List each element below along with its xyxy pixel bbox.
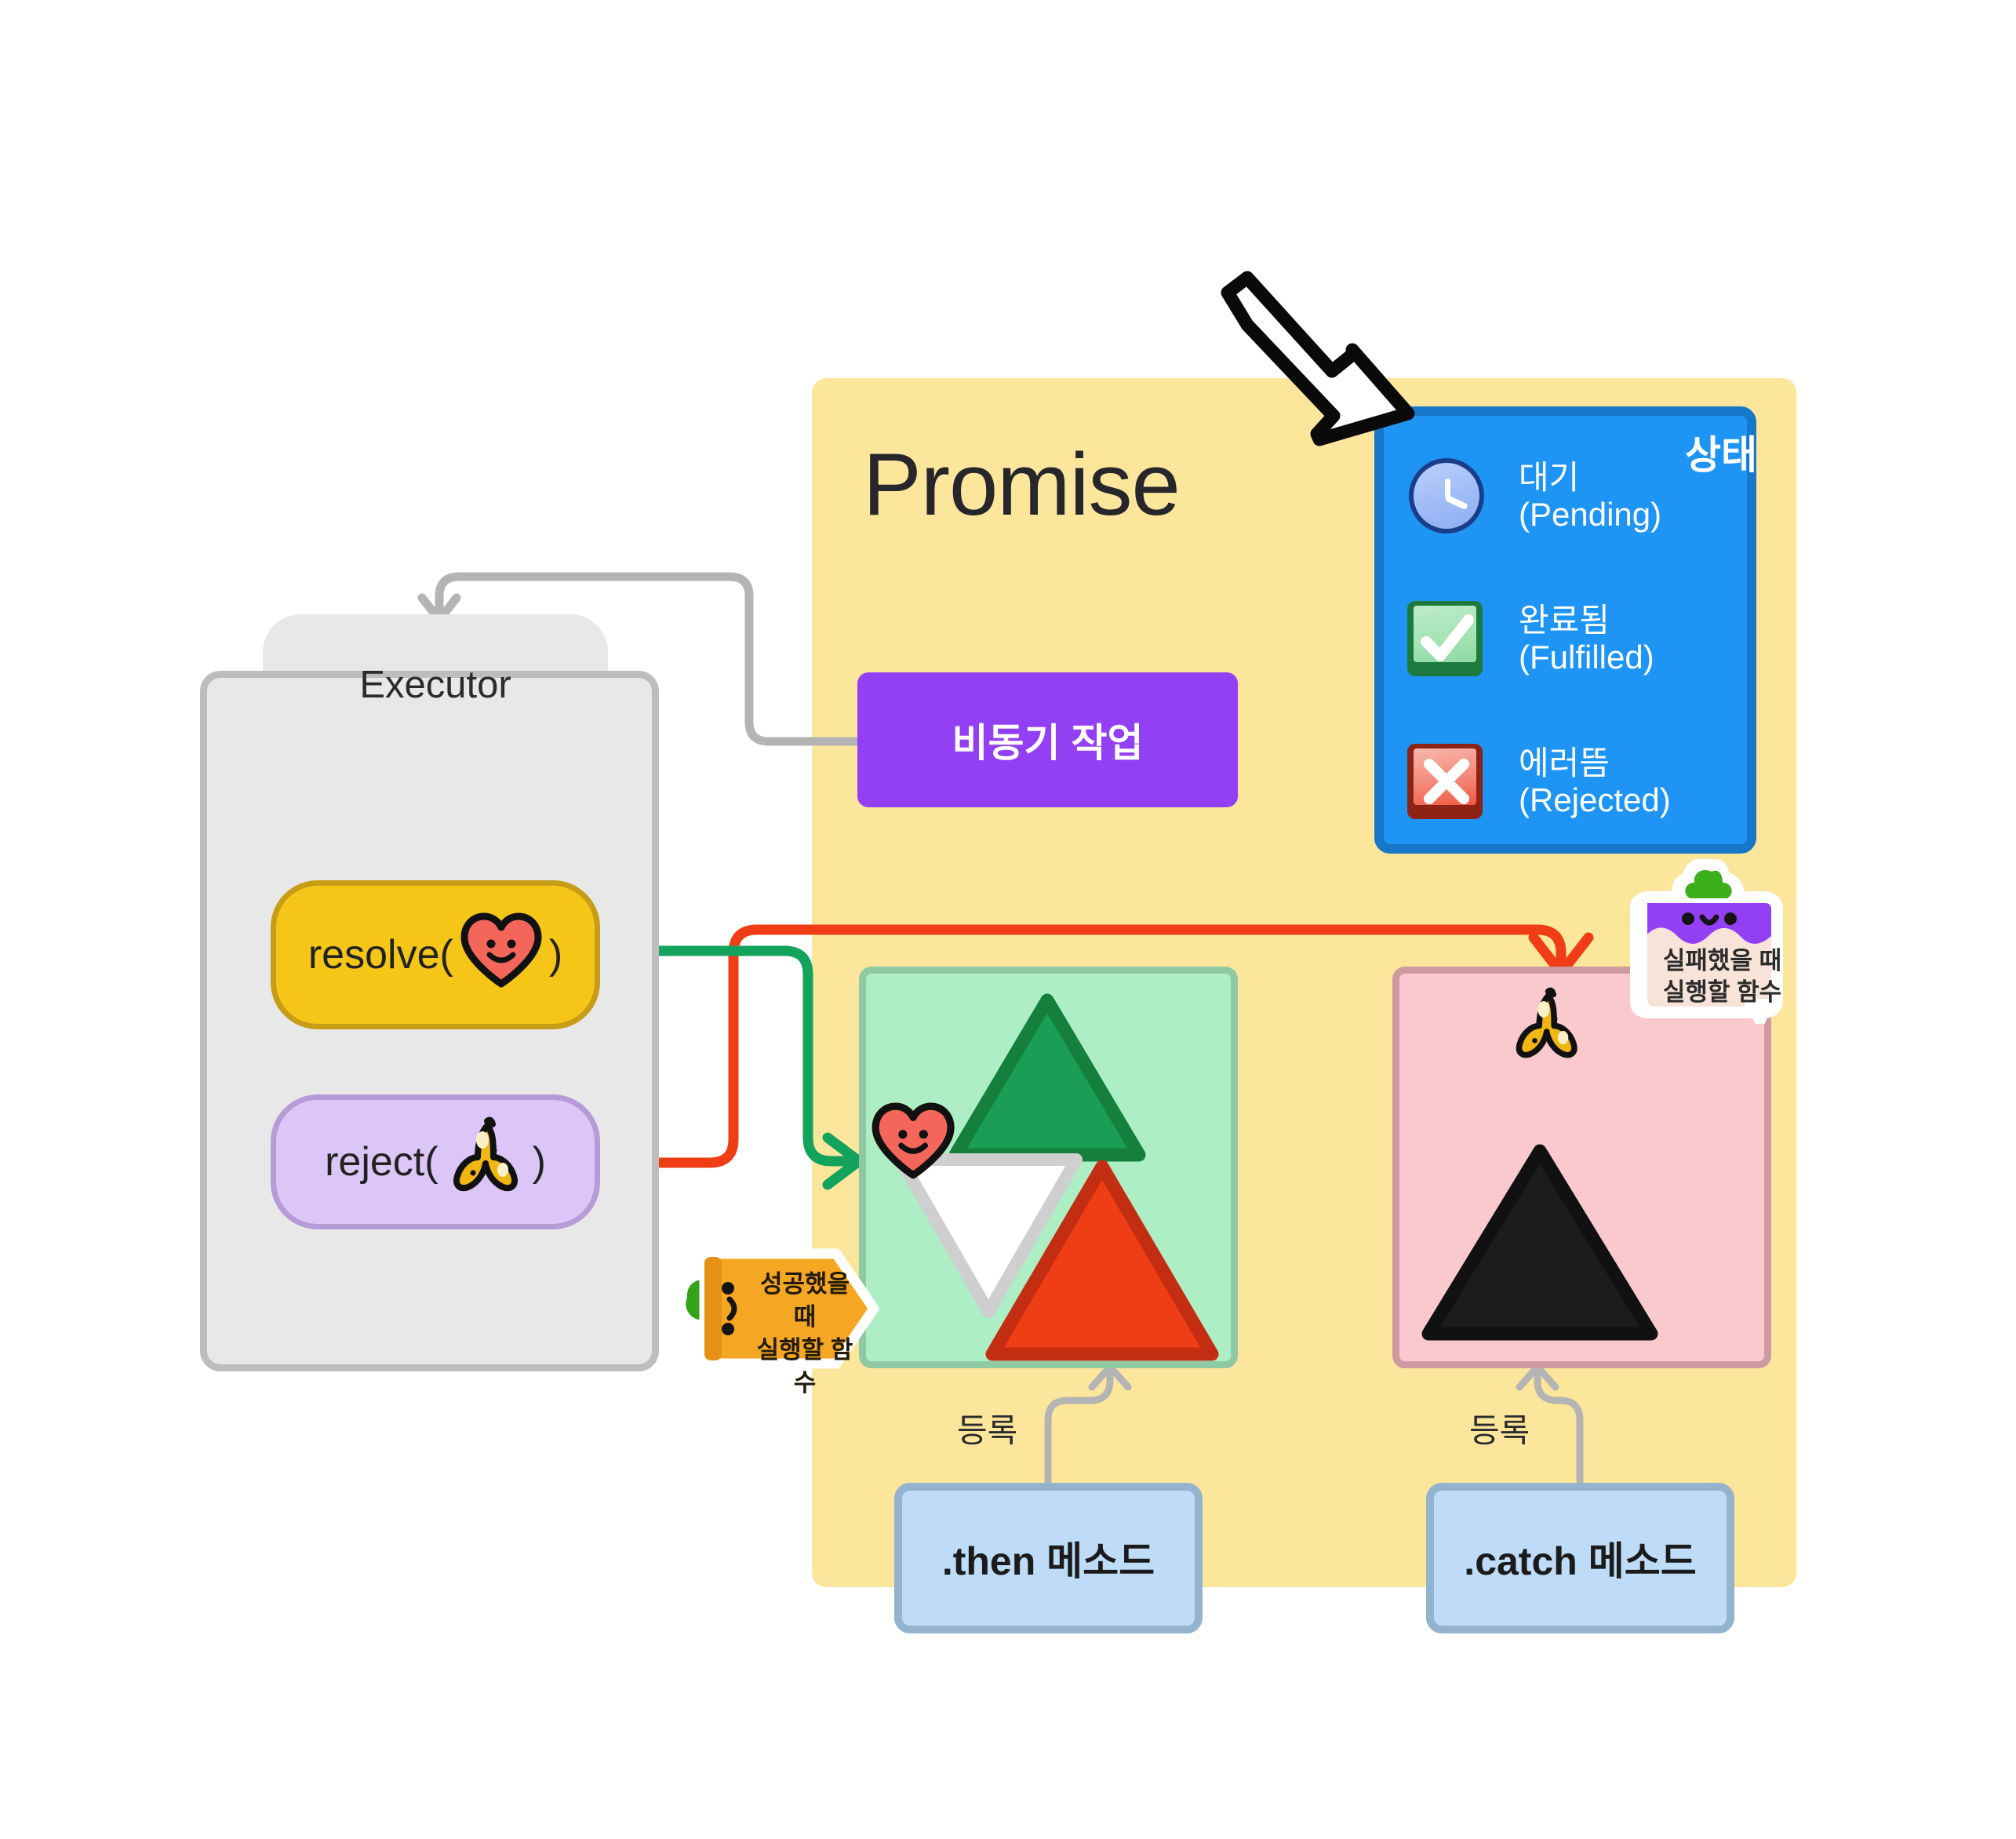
- reject-prefix: reject(: [325, 1138, 438, 1185]
- state-row-pending: 대기 (Pending): [1404, 453, 1661, 538]
- async-task-box: 비동기 작업: [857, 672, 1238, 807]
- banana-peel-emoji: [449, 1116, 522, 1208]
- fail-callout-text: 실패했을 때 실행할 함수: [1646, 945, 1799, 1009]
- executor-label: Executor: [263, 663, 608, 707]
- catch-method-label: .catch 메소드: [1464, 1530, 1696, 1586]
- diagram-canvas: Promise Executor resolve(: [0, 0, 2016, 1839]
- catch-zone: [1392, 967, 1771, 1368]
- then-zone: [859, 967, 1238, 1368]
- then-method-label: .then 메소드: [942, 1530, 1155, 1586]
- state-row-fulfilled: 완료됨 (Fulfilled): [1404, 596, 1654, 681]
- page-title: Promise: [863, 441, 1334, 529]
- heart-face-emoji: [458, 912, 544, 998]
- state-fulfilled-text: 완료됨 (Fulfilled): [1519, 602, 1654, 676]
- then-method-box[interactable]: .then 메소드: [894, 1483, 1203, 1633]
- success-callout: 성공했을 때 실행할 함수: [681, 1240, 881, 1377]
- reject-pill[interactable]: reject( ): [271, 1094, 600, 1229]
- cross-box-icon: [1404, 739, 1489, 824]
- state-row-rejected: 에러뜸 (Rejected): [1404, 739, 1671, 824]
- clock-icon: [1404, 453, 1489, 538]
- state-box-title: 상태: [1647, 424, 1757, 480]
- check-box-icon: [1404, 596, 1489, 681]
- fail-callout: 실패했을 때 실행할 함수: [1630, 859, 1814, 1024]
- resolve-prefix: resolve(: [308, 931, 453, 978]
- resolve-suffix: ): [549, 931, 562, 978]
- then-register-label: 등록: [957, 1404, 1017, 1452]
- state-rejected-text: 에러뜸 (Rejected): [1519, 745, 1671, 818]
- state-pending-text: 대기 (Pending): [1519, 459, 1661, 533]
- success-callout-text: 성공했을 때 실행할 함수: [747, 1268, 863, 1399]
- async-task-label: 비동기 작업: [952, 712, 1144, 768]
- resolve-pill[interactable]: resolve( ): [271, 880, 600, 1029]
- catch-register-label: 등록: [1469, 1404, 1530, 1452]
- catch-method-box[interactable]: .catch 메소드: [1426, 1483, 1734, 1633]
- reject-suffix: ): [533, 1138, 546, 1185]
